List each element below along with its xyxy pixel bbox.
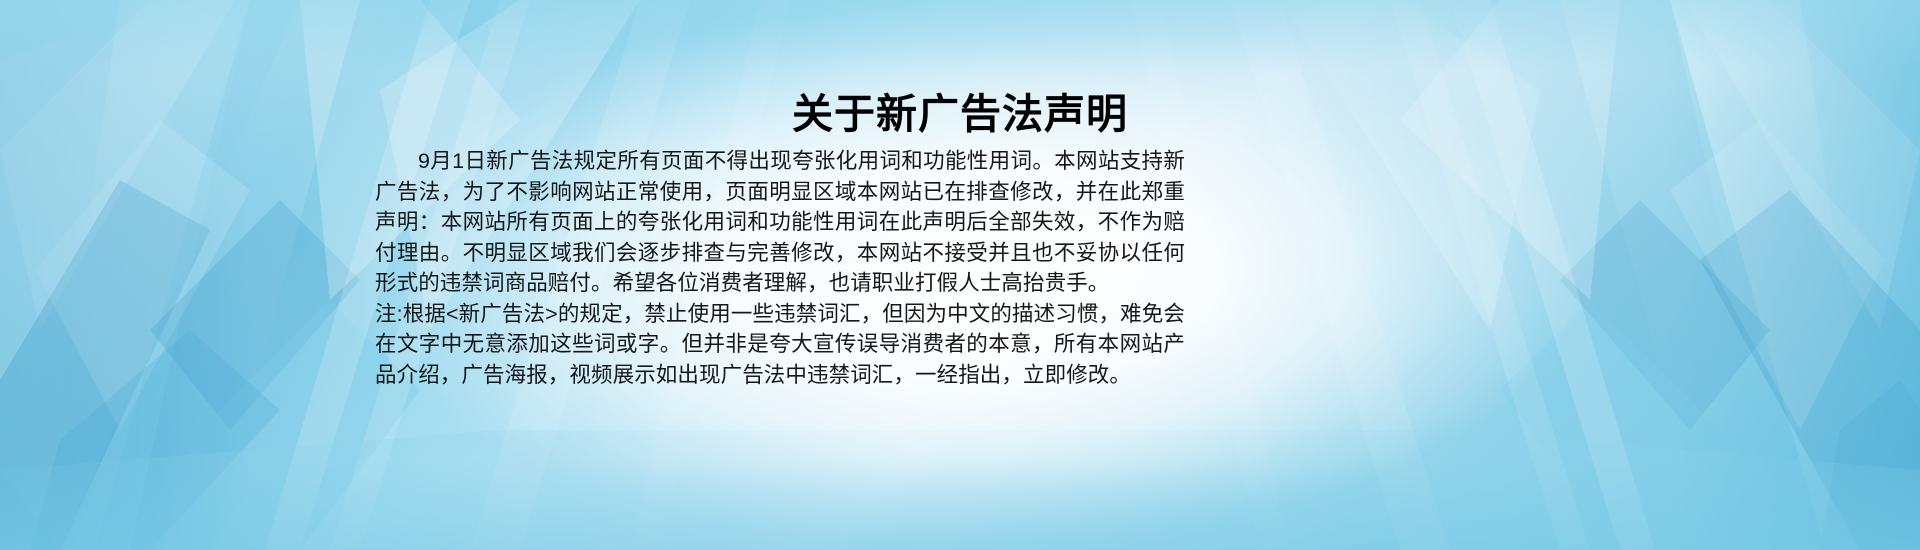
statement-content: 关于新广告法声明 9月1日新广告法规定所有页面不得出现夸张化用词和功能性用词。本…	[0, 0, 1920, 550]
statement-body: 9月1日新广告法规定所有页面不得出现夸张化用词和功能性用词。本网站支持新广告法，…	[375, 146, 1185, 390]
advertising-law-statement-banner: 关于新广告法声明 9月1日新广告法规定所有页面不得出现夸张化用词和功能性用词。本…	[0, 0, 1920, 550]
page-title: 关于新广告法声明	[0, 86, 1920, 142]
statement-paragraph-note: 注:根据<新广告法>的规定，禁止使用一些违禁词汇，但因为中文的描述习惯，难免会在…	[375, 299, 1185, 391]
statement-paragraph-main: 9月1日新广告法规定所有页面不得出现夸张化用词和功能性用词。本网站支持新广告法，…	[375, 146, 1185, 299]
